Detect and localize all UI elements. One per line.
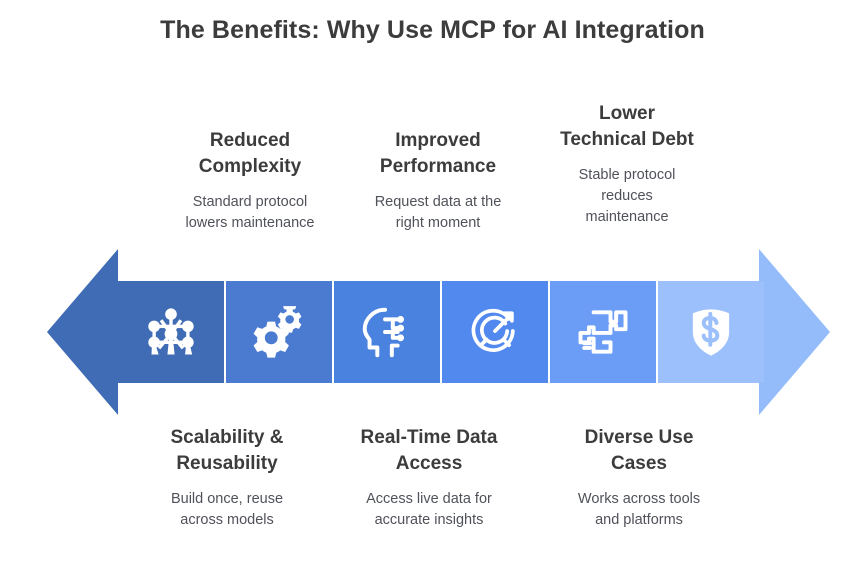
callout-title: Improved Performance — [345, 128, 531, 180]
callout-title: Lower Technical Debt — [533, 101, 721, 153]
callout-description: Stable protocol reduces maintenance — [533, 165, 721, 228]
callout-description: Works across tools and platforms — [540, 489, 738, 531]
callout-diverse-use-cases: Diverse Use Cases Works across tools and… — [540, 425, 738, 531]
callout-description: Build once, reuse across models — [123, 489, 331, 531]
callout-description: Standard protocol lowers maintenance — [148, 192, 352, 234]
ai-head-circuit-icon — [356, 301, 418, 363]
callout-lower-technical-debt: Lower Technical Debt Stable protocol red… — [533, 101, 721, 228]
callout-description: Access live data for accurate insights — [330, 489, 528, 531]
puzzle-modules-icon — [573, 302, 633, 362]
callout-title: Scalability & Reusability — [123, 425, 331, 477]
shield-dollar-icon — [682, 303, 740, 361]
callout-title: Real-Time Data Access — [330, 425, 528, 477]
callout-title: Diverse Use Cases — [540, 425, 738, 477]
segment-realtime-data-access[interactable] — [442, 281, 548, 383]
arrow-head-right-icon — [759, 249, 830, 415]
segment-improved-performance[interactable] — [334, 281, 440, 383]
target-arrow-icon — [465, 302, 525, 362]
segment-list — [118, 281, 764, 383]
callout-description: Request data at the right moment — [345, 192, 531, 234]
callout-reduced-complexity: Reduced Complexity Standard protocol low… — [148, 128, 352, 234]
callout-scalability-reusability: Scalability & Reusability Build once, re… — [123, 425, 331, 531]
segment-diverse-use-cases[interactable] — [658, 281, 764, 383]
segment-lower-technical-debt[interactable] — [550, 281, 656, 383]
benefits-arrow-band — [0, 249, 865, 415]
page-title: The Benefits: Why Use MCP for AI Integra… — [0, 14, 865, 46]
callout-improved-performance: Improved Performance Request data at the… — [345, 128, 531, 234]
molecule-atomium-icon — [141, 302, 201, 362]
segment-reduced-complexity[interactable] — [118, 281, 224, 383]
callout-title: Reduced Complexity — [148, 128, 352, 180]
segment-scalability-reusability[interactable] — [226, 281, 332, 383]
callout-realtime-data-access: Real-Time Data Access Access live data f… — [330, 425, 528, 531]
arrow-head-left-icon — [47, 249, 118, 415]
gears-cogs-icon — [248, 301, 310, 363]
